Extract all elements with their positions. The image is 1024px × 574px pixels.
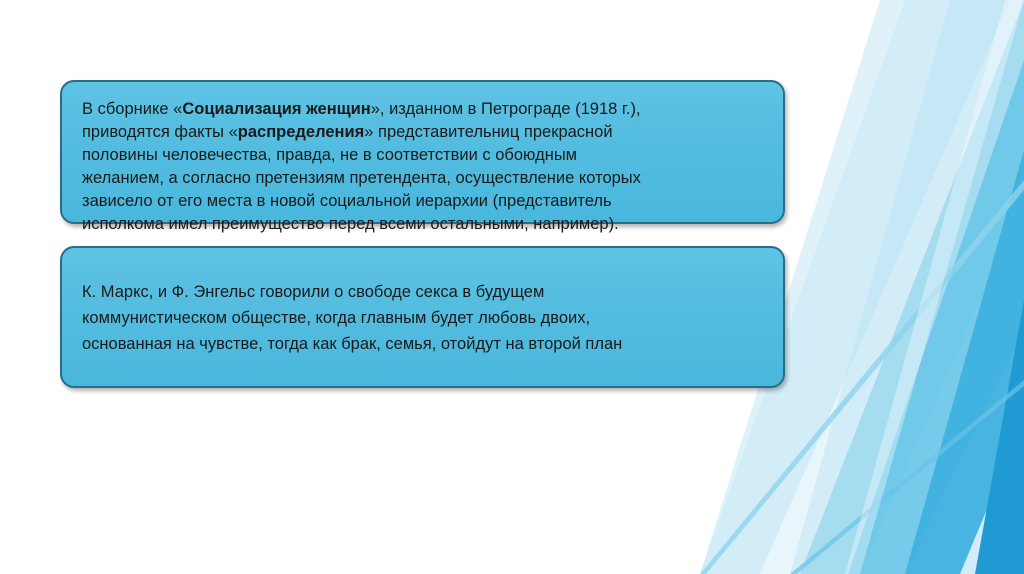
callout-box-1: В сборнике «Социализация женщин», изданн…: [60, 80, 785, 224]
callout-2-line-1: К. Маркс, и Ф. Энгельс говорили о свобод…: [82, 279, 763, 305]
callout-2-line-2: коммунистическом обществе, когда главным…: [82, 305, 763, 331]
callout-2-line-3: основанная на чувстве, тогда как брак, с…: [82, 331, 763, 357]
slide-canvas: В сборнике «Социализация женщин», изданн…: [0, 0, 1024, 574]
callout-1-line-1: В сборнике «Социализация женщин», изданн…: [82, 98, 763, 121]
callout-1-line-3: половины человечества, правда, не в соот…: [82, 144, 763, 167]
callout-box-2: К. Маркс, и Ф. Энгельс говорили о свобод…: [60, 246, 785, 388]
callout-1-text: В сборнике «Социализация женщин», изданн…: [82, 98, 763, 236]
callout-1-line-4: желанием, а согласно претензиям претенде…: [82, 167, 763, 190]
callout-1-line-6: исполкома имел преимущество перед всеми …: [82, 213, 763, 236]
callout-2-text: К. Маркс, и Ф. Энгельс говорили о свобод…: [82, 279, 763, 357]
callout-1-line-5: зависело от его места в новой социальной…: [82, 190, 763, 213]
callout-1-line-2: приводятся факты «распределения» предста…: [82, 121, 763, 144]
